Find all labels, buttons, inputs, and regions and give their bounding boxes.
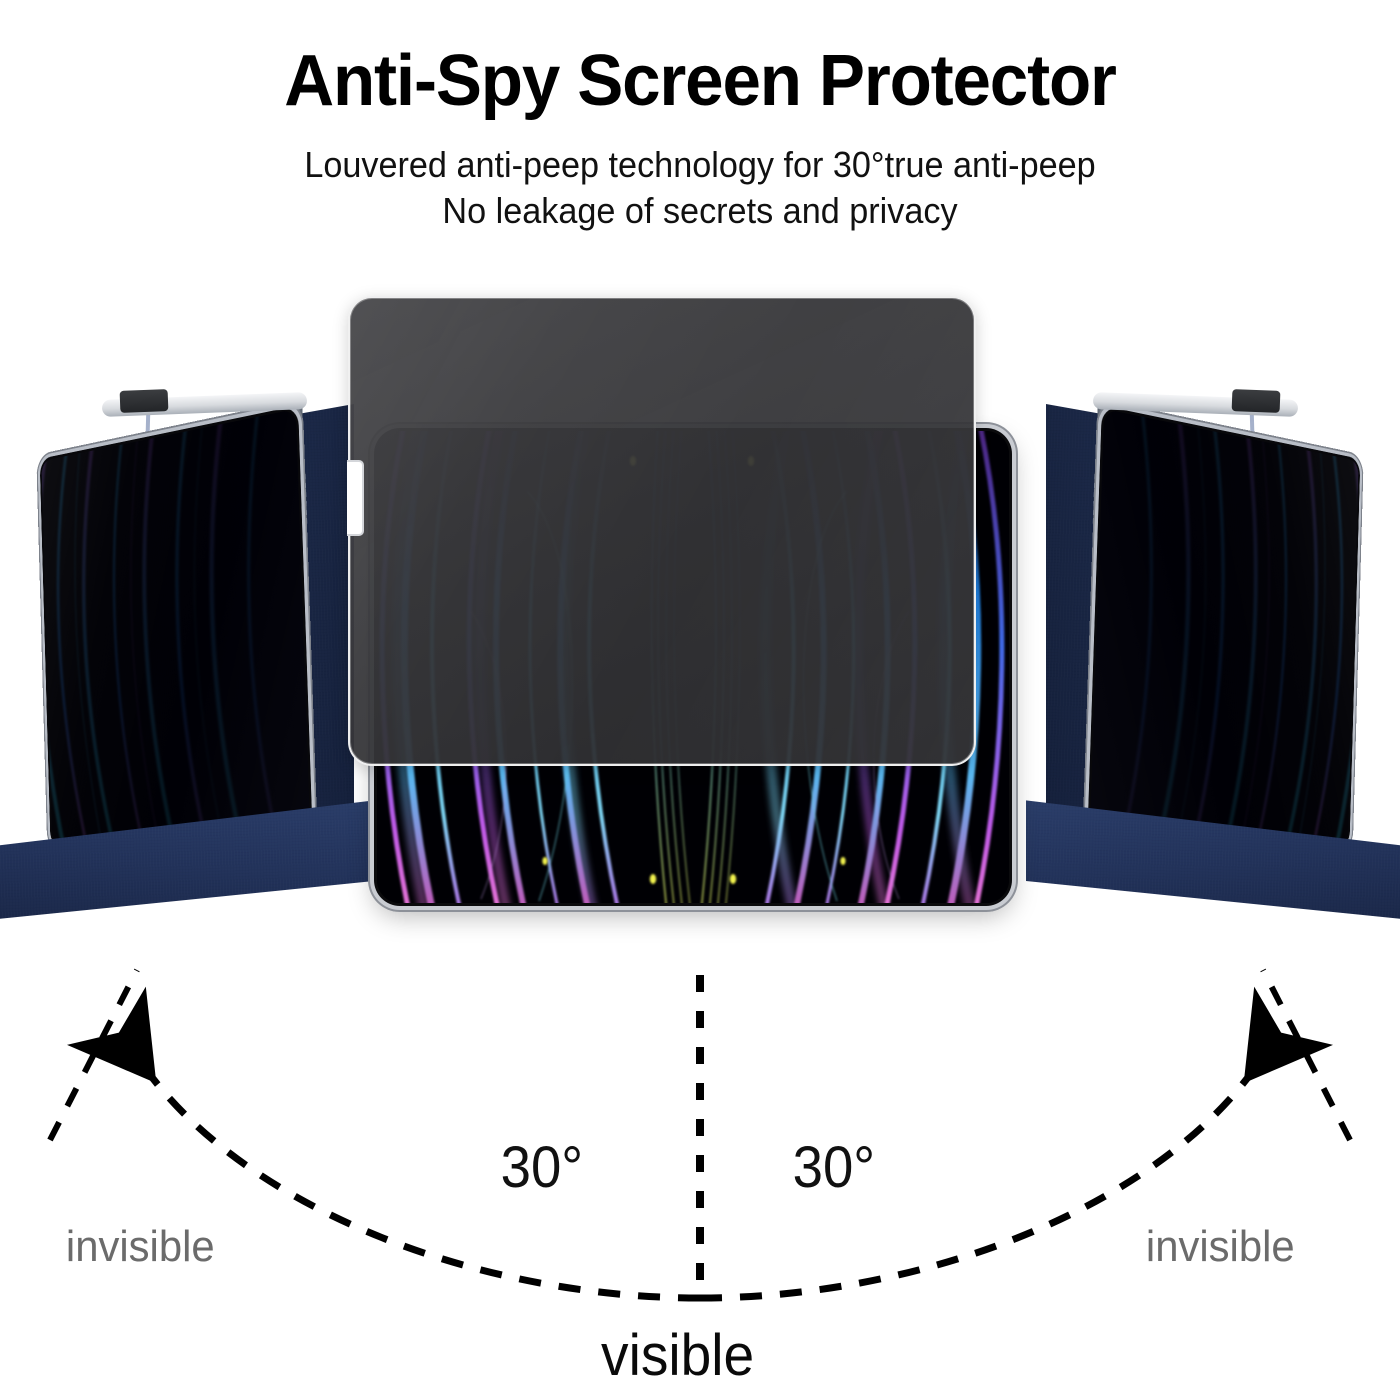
left-boundary-ray: [50, 970, 137, 1140]
left-tablet: [40, 405, 314, 875]
angle-label-right: 30°: [793, 1134, 875, 1201]
invisible-label-right: invisible: [1146, 1222, 1295, 1272]
visible-label: visible: [601, 1322, 754, 1389]
invisible-label-left: invisible: [66, 1222, 215, 1272]
product-stage: [0, 0, 1400, 960]
right-tablet: [1086, 405, 1360, 875]
right-screen-wallpaper: [1089, 409, 1359, 872]
left-tablet-screen: [41, 409, 311, 872]
right-tablet-screen: [1089, 409, 1359, 872]
privacy-film-overlay: [348, 296, 976, 766]
right-tablet-unit: [1066, 0, 1400, 960]
left-pencil-strap: [120, 389, 169, 413]
right-pencil-strap: [1232, 389, 1281, 413]
left-tablet-unit: [0, 0, 334, 960]
film-camera-notch: [347, 460, 364, 536]
left-screen-wallpaper: [41, 409, 311, 872]
film-sheen: [350, 298, 974, 764]
angle-label-left: 30°: [501, 1134, 583, 1201]
right-boundary-ray: [1263, 970, 1350, 1140]
left-angle-arc: [148, 1072, 700, 1298]
